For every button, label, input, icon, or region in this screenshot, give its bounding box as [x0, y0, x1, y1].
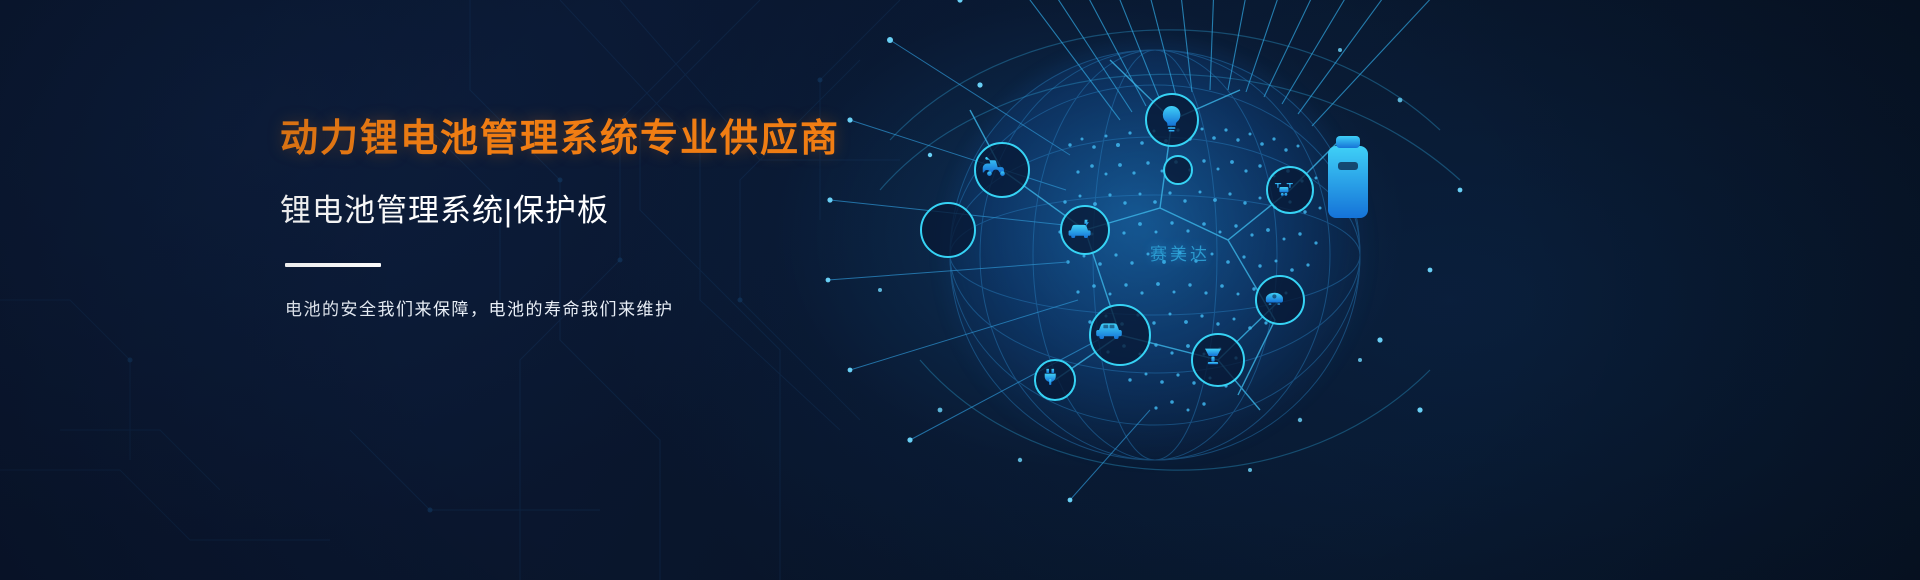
- globe-graphic: 赛美达: [820, 0, 1540, 580]
- divider-rule: [285, 263, 381, 267]
- drone-icon: [1267, 167, 1313, 213]
- empty-node-small-icon: [1164, 156, 1192, 184]
- page-title: 动力锂电池管理系统专业供应商: [280, 118, 900, 162]
- lightbulb-icon: [1146, 94, 1198, 146]
- battery-module-icon: [1328, 136, 1368, 218]
- globe-center-label: 赛美达: [1150, 240, 1210, 265]
- hero-subtitle: 锂电池管理系统|保护板: [280, 192, 900, 229]
- hero-banner: 动力锂电池管理系统专业供应商 锂电池管理系统|保护板 电池的安全我们来保障，电池…: [0, 0, 1920, 580]
- floodlight-icon: [1192, 334, 1244, 386]
- hero-copy: 动力锂电池管理系统专业供应商 锂电池管理系统|保护板 电池的安全我们来保障，电池…: [280, 118, 900, 320]
- scooter-icon: [975, 143, 1029, 197]
- hero-tagline: 电池的安全我们来保障，电池的寿命我们来维护: [285, 295, 900, 320]
- globe-svg: [820, 0, 1540, 580]
- ev-car-charging-icon: [1061, 206, 1109, 254]
- robot-vacuum-icon: [1256, 276, 1304, 324]
- charger-plug-icon: [1035, 360, 1075, 400]
- empty-node-icon: [921, 203, 975, 257]
- car-icon: [1090, 305, 1150, 365]
